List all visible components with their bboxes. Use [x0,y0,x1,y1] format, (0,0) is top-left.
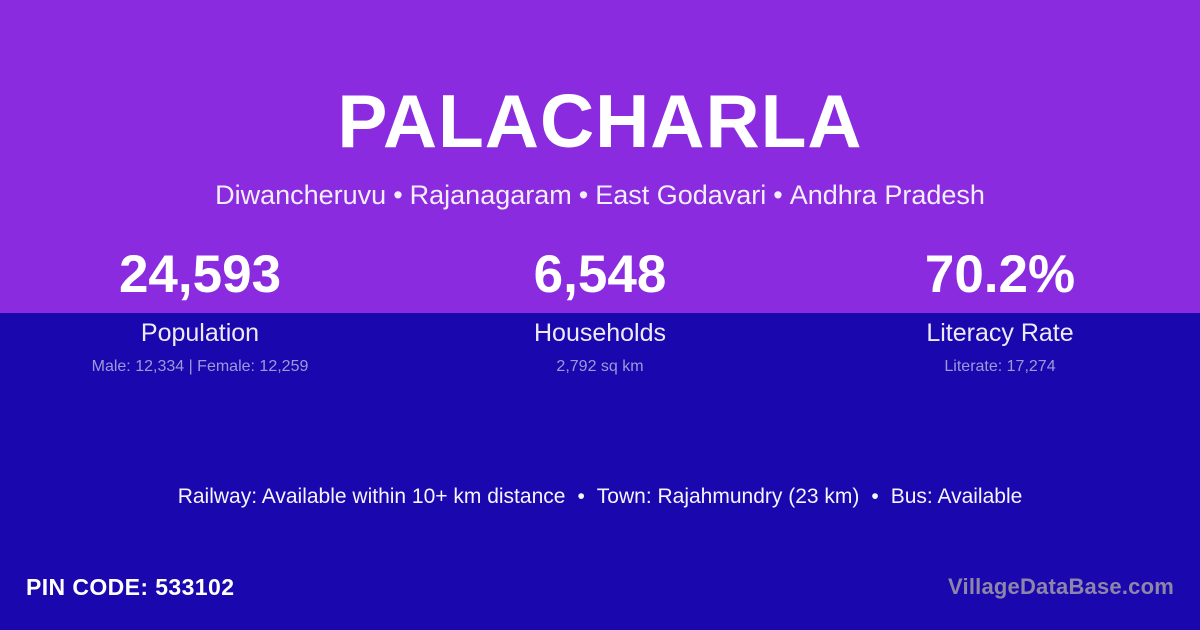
stat-label-literacy-rate: Literacy Rate [800,320,1200,346]
stat-literacy-rate: 70.2% Literacy Rate Literate: 17,274 [800,248,1200,376]
breadcrumb-separator-icon: • [572,181,595,211]
amenity-railway: Railway: Available within 10+ km distanc… [178,485,566,508]
village-info-card: PALACHARLA Diwancheruvu•Rajanagaram•East… [0,0,1200,630]
site-watermark: VillageDataBase.com [948,574,1174,600]
amenity-bus: Bus: Available [891,485,1023,508]
amenity-town: Town: Rajahmundry (23 km) [597,485,860,508]
breadcrumb-item-block: Rajanagaram [410,180,572,210]
stat-value-population: 24,593 [0,248,400,301]
stat-detail-area: 2,792 sq km [400,359,800,376]
pin-code-label: PIN CODE: 533102 [26,574,234,601]
stat-population: 24,593 Population Male: 12,334 | Female:… [0,248,400,376]
stat-detail-population: Male: 12,334 | Female: 12,259 [0,359,400,376]
stat-label-households: Households [400,320,800,346]
stat-detail-literate: Literate: 17,274 [800,359,1200,376]
breadcrumb-item-district: East Godavari [595,180,766,210]
stat-label-population: Population [0,320,400,346]
amenities-summary: Railway: Available within 10+ km distanc… [0,485,1200,508]
card-header: PALACHARLA Diwancheruvu•Rajanagaram•East… [0,0,1200,211]
page-title: PALACHARLA [0,84,1200,159]
stat-value-literacy-rate: 70.2% [800,248,1200,301]
amenity-separator-icon: • [565,485,596,508]
breadcrumb-item-state: Andhra Pradesh [790,180,985,210]
breadcrumb-separator-icon: • [766,181,789,211]
statistics-row: 24,593 Population Male: 12,334 | Female:… [0,248,1200,376]
card-footer: PIN CODE: 533102 VillageDataBase.com [0,558,1200,630]
breadcrumb: Diwancheruvu•Rajanagaram•East Godavari•A… [0,181,1200,211]
amenity-separator-icon: • [859,485,890,508]
breadcrumb-separator-icon: • [386,181,409,211]
breadcrumb-item-mandal: Diwancheruvu [215,180,386,210]
stat-households: 6,548 Households 2,792 sq km [400,248,800,376]
stat-value-households: 6,548 [400,248,800,301]
